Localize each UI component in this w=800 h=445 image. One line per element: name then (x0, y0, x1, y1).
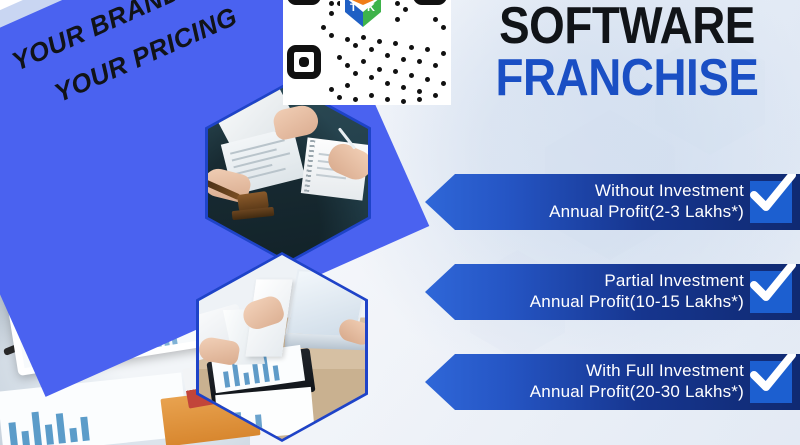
cube-letter-right: K (367, 2, 375, 14)
offer-1-text: Without Investment Annual Profit(2-3 Lak… (549, 181, 744, 222)
offer-2-title: Partial Investment (530, 271, 744, 292)
offer-1-title: Without Investment (549, 181, 744, 202)
offer-3-profit: Annual Profit(20-30 Lakhs*) (530, 382, 744, 403)
check-icon (748, 259, 796, 307)
offer-1-profit: Annual Profit(2-3 Lakhs*) (549, 202, 744, 223)
headline-line-1: SOFTWARE (482, 2, 772, 52)
chart-paper (0, 373, 188, 445)
checkmark-box-2 (750, 271, 792, 313)
offer-banner-3[interactable]: With Full Investment Annual Profit(20-30… (425, 354, 800, 410)
cube-letter-left: T (350, 2, 357, 14)
promo-banner: YOUR BRAND YOUR PRICING (0, 0, 800, 445)
qr-finder-top-left (287, 0, 321, 5)
check-icon (748, 349, 796, 397)
offer-3-text: With Full Investment Annual Profit(20-30… (530, 361, 744, 402)
offer-2-text: Partial Investment Annual Profit(10-15 L… (530, 271, 744, 312)
brand-cube-logo: T T K (340, 0, 386, 33)
offer-2-profit: Annual Profit(10-15 Lakhs*) (530, 292, 744, 313)
checkmark-box-3 (750, 361, 792, 403)
offer-banner-2[interactable]: Partial Investment Annual Profit(10-15 L… (425, 264, 800, 320)
checkmark-box-1 (750, 181, 792, 223)
cube-shape: T T K (340, 0, 386, 33)
qr-finder-bottom-left (287, 45, 321, 79)
qr-code[interactable]: T T K (283, 0, 451, 105)
qr-finder-top-right (413, 0, 447, 5)
headline-line-2: FRANCHISE (482, 52, 772, 105)
headline: SOFTWARE FRANCHISE (462, 2, 792, 105)
offer-3-title: With Full Investment (530, 361, 744, 382)
check-icon (748, 169, 796, 217)
offer-banner-1[interactable]: Without Investment Annual Profit(2-3 Lak… (425, 174, 800, 230)
